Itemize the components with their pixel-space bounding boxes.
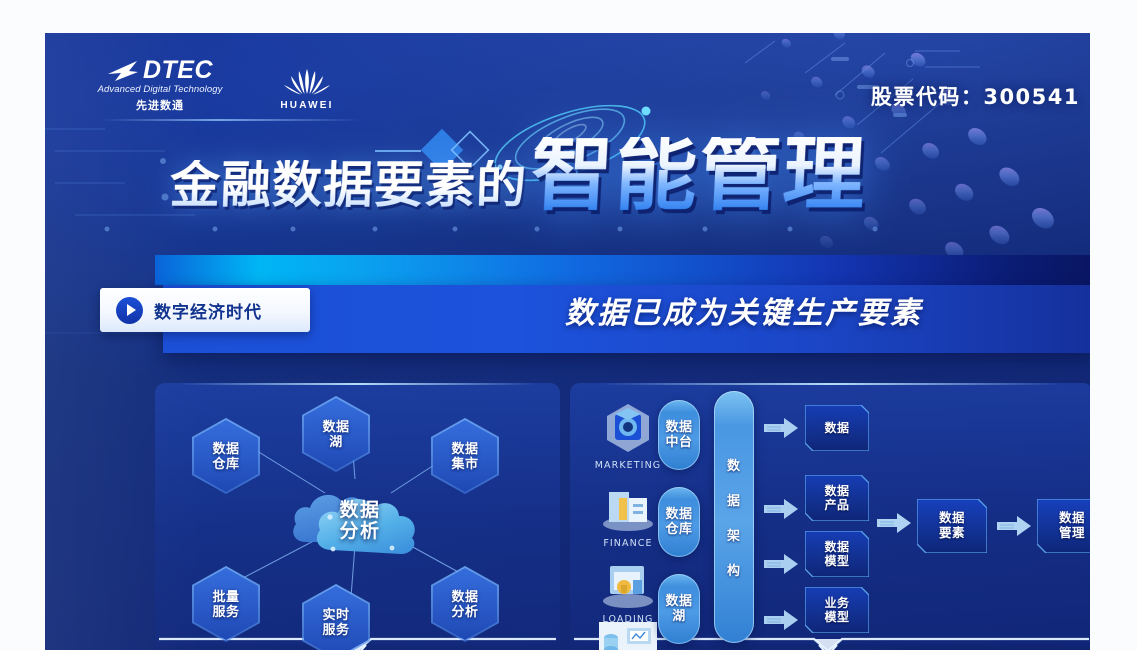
- outbox-line1: 数据: [824, 484, 849, 498]
- capsule-line1: 数据: [665, 420, 692, 435]
- output-box-data[interactable]: 数据: [805, 405, 869, 451]
- bigbox-line1: 数据: [939, 511, 965, 526]
- final-box-data-management[interactable]: 数据 管理: [1037, 499, 1090, 553]
- arrow-right-icon: [764, 552, 798, 576]
- hex-label-line2: 集市: [451, 456, 478, 471]
- hex-label-line2: 湖: [329, 434, 343, 449]
- marketing-icon: [597, 400, 659, 456]
- hex-label-line1: 实时: [322, 607, 349, 622]
- page-title: 金融数据要素的 智能管理: [170, 137, 867, 212]
- screenshot-root: DTEC Advanced Digital Technology 先进数通: [0, 0, 1137, 650]
- finance-label: FINANCE: [588, 538, 668, 549]
- capsule-line2: 湖: [672, 609, 686, 624]
- architecture-char-3: 架: [727, 525, 741, 544]
- huawei-flower-icon: [282, 67, 332, 97]
- outbox-line2: 模型: [824, 554, 849, 568]
- play-icon: [116, 297, 143, 324]
- brand-logos: DTEC Advanced Digital Technology 先进数通: [90, 58, 350, 113]
- outbox-line2: 产品: [824, 498, 849, 512]
- marketing-label: MARKETING: [588, 460, 668, 471]
- logo-underline-divider: [101, 119, 361, 121]
- huawei-wordmark: HUAWEI: [264, 100, 350, 111]
- dtec-arrow-icon: [107, 60, 141, 82]
- hex-label-line1: 数据: [322, 419, 349, 434]
- finance-icon: [597, 478, 659, 534]
- outbox-line1: 数据: [824, 540, 849, 554]
- title-prefix: 金融数据要素的: [169, 160, 528, 212]
- data-architecture-capsule[interactable]: 数 据 架 构: [714, 391, 754, 643]
- bigbox-line2: 要素: [939, 526, 965, 541]
- architecture-char-4: 构: [727, 560, 741, 579]
- capsule-line2: 中台: [665, 435, 692, 450]
- bigbox-line2: 管理: [1059, 526, 1085, 541]
- section-tag-pill[interactable]: 数字经济时代: [100, 288, 310, 332]
- stock-code-label: 股票代码：300541: [871, 81, 1080, 111]
- cloud-label: 数据 分析: [288, 470, 418, 566]
- output-box-data-model[interactable]: 数据 模型: [805, 531, 869, 577]
- dtec-logo: DTEC Advanced Digital Technology 先进数通: [90, 58, 230, 113]
- outbox-line2: 模型: [824, 610, 849, 624]
- center-cloud: 数据 分析: [288, 470, 418, 566]
- hex-label-line1: 数据: [212, 441, 239, 456]
- hex-label-line1: 数据: [451, 589, 478, 604]
- arrow-right-icon: [764, 416, 798, 440]
- capsule-data-lake[interactable]: 数据 湖: [658, 574, 700, 644]
- capsule-data-warehouse[interactable]: 数据 仓库: [658, 487, 700, 557]
- capsule-data-midplatform[interactable]: 数据 中台: [658, 400, 700, 470]
- hex-label-line1: 数据: [451, 441, 478, 456]
- result-box-data-element[interactable]: 数据 要素: [917, 499, 987, 553]
- banner-headline: 数据已成为关键生产要素: [565, 285, 1065, 335]
- hex-label-line2: 分析: [451, 604, 478, 619]
- output-box-data-product[interactable]: 数据 产品: [805, 475, 869, 521]
- outbox-line1: 数据: [824, 421, 849, 435]
- presentation-slide: DTEC Advanced Digital Technology 先进数通: [45, 33, 1090, 650]
- section-tag-label: 数字经济时代: [154, 298, 262, 323]
- capsule-line1: 数据: [665, 594, 692, 609]
- title-emphasis: 智能管理: [529, 137, 869, 212]
- hex-label-line2: 服务: [322, 622, 349, 637]
- hex-label-line1: 批量: [212, 589, 239, 604]
- capsule-line2: 仓库: [665, 522, 692, 537]
- output-box-business-model[interactable]: 业务 模型: [805, 587, 869, 633]
- huawei-logo: HUAWEI: [264, 67, 350, 113]
- dtec-tagline: Advanced Digital Technology: [90, 84, 230, 95]
- cloud-label-line2: 分析: [339, 521, 380, 542]
- banner-gradient-strip: [155, 255, 1090, 285]
- arrow-right-icon: [764, 608, 798, 632]
- dtec-wordmark: DTEC: [143, 58, 213, 83]
- arrow-right-icon: [764, 497, 798, 521]
- cloud-label-line1: 数据: [339, 500, 380, 521]
- architecture-char-1: 数: [727, 455, 741, 474]
- analytics-thumbnail-icon: [597, 620, 659, 650]
- arrow-right-icon: [877, 511, 911, 535]
- dtec-chinese-name: 先进数通: [90, 97, 230, 113]
- hex-label-line2: 仓库: [212, 456, 239, 471]
- capsule-line1: 数据: [665, 507, 692, 522]
- outbox-line1: 业务: [824, 596, 849, 610]
- hex-label-line2: 服务: [212, 604, 239, 619]
- arrow-right-icon: [997, 514, 1031, 538]
- architecture-char-2: 据: [727, 490, 741, 509]
- loading-icon: [597, 554, 659, 610]
- bigbox-line1: 数据: [1059, 511, 1085, 526]
